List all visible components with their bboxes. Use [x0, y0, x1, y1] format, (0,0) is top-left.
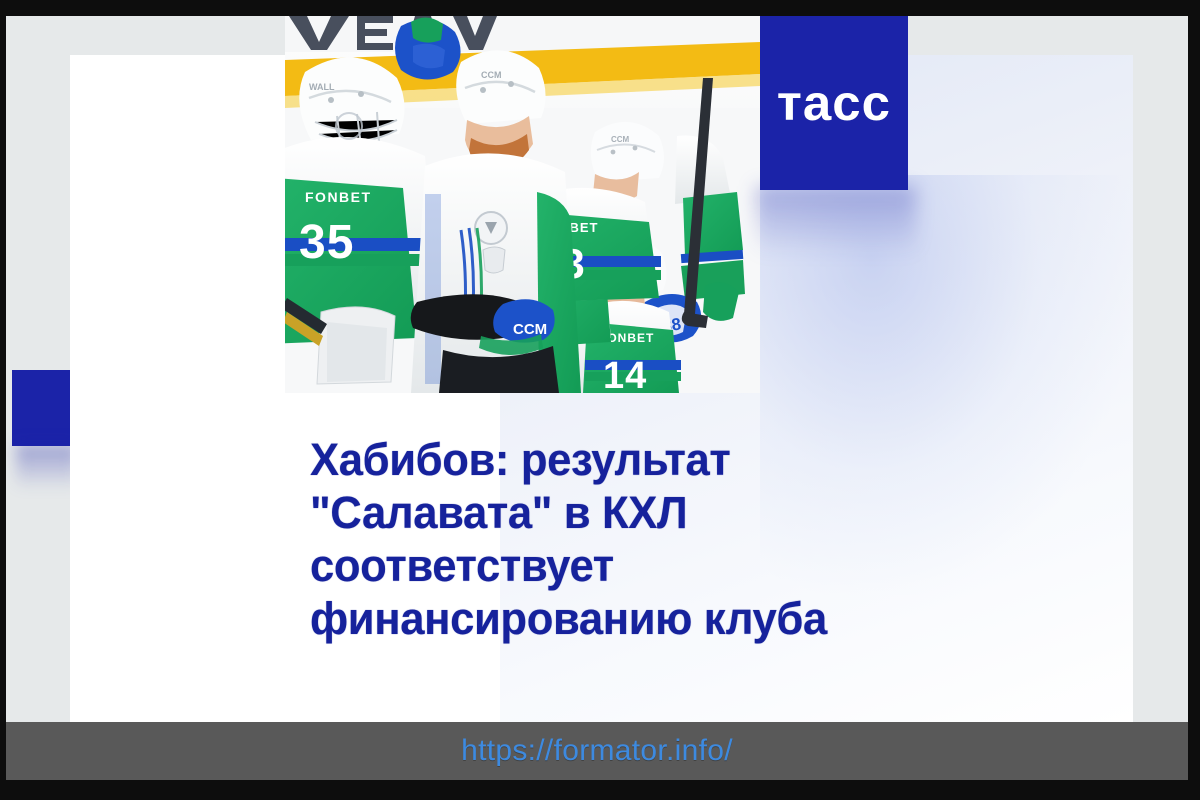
- svg-text:WALL: WALL: [309, 82, 335, 92]
- decorative-blue-square-left: [12, 370, 78, 446]
- hockey-photo-illustration: 88 CCM: [285, 16, 760, 393]
- frame-edge-left: [0, 0, 6, 800]
- svg-text:CCM: CCM: [513, 321, 547, 338]
- svg-text:14: 14: [603, 355, 647, 393]
- watermark-url[interactable]: https://formator.info/: [461, 734, 733, 768]
- svg-text:CCM: CCM: [611, 135, 630, 144]
- svg-text:CCM: CCM: [481, 70, 502, 80]
- svg-text:35: 35: [299, 216, 354, 269]
- page-title: Хабибов: результат "Салавата" в КХЛ соот…: [310, 433, 931, 645]
- svg-text:FONBET: FONBET: [305, 189, 372, 205]
- watermark-bar: https://formator.info/: [6, 722, 1188, 780]
- tass-logo: тасс: [760, 16, 908, 190]
- frame-edge-bottom: [0, 780, 1200, 800]
- frame-edge-top: [0, 0, 1200, 16]
- hockey-photo: 88 CCM: [285, 16, 760, 393]
- frame-edge-right: [1188, 0, 1200, 800]
- news-card-screenshot: 88 CCM: [0, 0, 1200, 800]
- tass-logo-text: тасс: [777, 78, 891, 128]
